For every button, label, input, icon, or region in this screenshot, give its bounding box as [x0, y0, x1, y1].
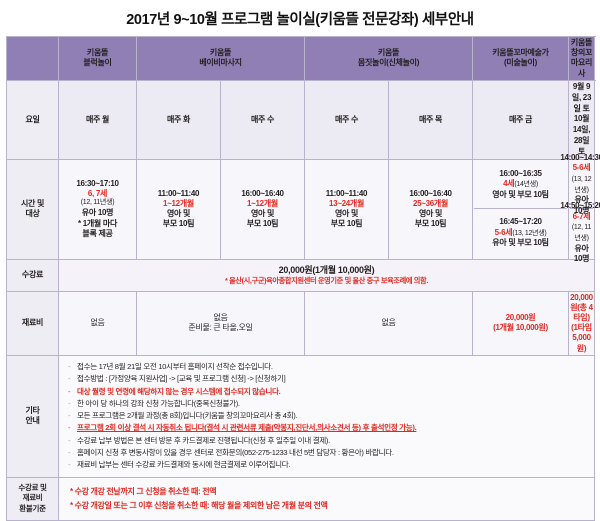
row-label-tuition: 수강료	[7, 259, 59, 291]
bullet-icon: -	[68, 435, 77, 447]
note-text: 재료비 납부는 센터 수강료 카드결제와 동시에 현금결제로 이루어집니다.	[77, 459, 589, 471]
header-col-block: 키움뜰 블럭놀이	[59, 37, 137, 81]
note-item: -수강료 납부 방법은 본 센터 방문 후 카드결제로 진행됩니다(신청 후 일…	[68, 435, 589, 447]
note-item: -접수는 17년 8월 21일 오전 10시부터 홈페이지 선착순 접수입니다.	[68, 361, 589, 373]
day-block: 매주 월	[59, 80, 137, 159]
time-target-row: 시간 및 대상 16:30~17:10 6, 7세 (12, 11년생) 유아 …	[7, 159, 595, 259]
note-text: 대상 월령 및 연령에 해당하지 않는 경우 시스템에 접수되지 않습니다.	[77, 386, 589, 398]
time-cell-art: 16:00~16:35 4세(14년생) 영아 및 부모 10팀 16:45~1…	[473, 159, 569, 259]
time-cell-art-second: 16:45~17:20 5-6세(13, 12년생) 유아 및 부모 10팀	[474, 209, 567, 257]
note-item: -대상 월령 및 연령에 해당하지 않는 경우 시스템에 접수되지 않습니다.	[68, 386, 589, 398]
note-item: -프로그램 2회 이상 결석 시 자동취소 됩니다(결석 시 관련서류 제출(약…	[68, 422, 589, 434]
bullet-icon: -	[68, 447, 77, 459]
header-col-cooking: 키움뜰 창의꼬마요리사	[569, 37, 595, 81]
tuition-value: 20,000원(1개월 10,000원) * 울산(시,구군)육아종합지원센터 …	[59, 259, 595, 291]
refund-policy-content: * 수강 개강 전날까지 그 신청을 취소한 때: 전액* 수강 개강일 또는 …	[59, 477, 595, 520]
bullet-icon: -	[68, 373, 77, 385]
day-body-wed: 매주 수	[305, 80, 389, 159]
bullet-icon: -	[68, 361, 77, 373]
notes-list: -접수는 17년 8월 21일 오전 10시부터 홈페이지 선착순 접수입니다.…	[60, 357, 593, 476]
bullet-icon: -	[68, 422, 77, 434]
time-cell-massage-tue: 11:00~11:40 1~12개월 영아 및 부모 10팀	[137, 159, 221, 259]
header-col-bodyplay: 키움뜰 몸짓놀이(신체놀이)	[305, 37, 473, 81]
row-label-time-target: 시간 및 대상	[7, 159, 59, 259]
header-corner	[7, 37, 59, 81]
notes-content: -접수는 17년 8월 21일 오전 10시부터 홈페이지 선착순 접수입니다.…	[59, 355, 595, 477]
day-massage-tue: 매주 화	[137, 80, 221, 159]
schedule-table: 키움뜰 블럭놀이 키움뜰 베이비마사지 키움뜰 몸짓놀이(신체놀이) 키움뜰꼬마…	[6, 36, 595, 521]
time-cell-cooking-second: 14:50~15:20 6-7세(12, 11년생) 유아 10명	[570, 209, 593, 257]
day-art-fri: 매주 금	[473, 80, 569, 159]
time-cell-cooking: 14:00~14:30 5-6세(13, 12년생) 유아 10명 14:50~…	[569, 159, 595, 259]
note-text: 접수는 17년 8월 21일 오전 10시부터 홈페이지 선착순 접수입니다.	[77, 361, 589, 373]
material-body: 없음	[305, 291, 473, 355]
time-cell-body-thu: 16:00~16:40 25~36개월 영아 및 부모 10팀	[389, 159, 473, 259]
bullet-icon: -	[68, 459, 77, 471]
day-row: 요일 매주 월 매주 화 매주 수 매주 수 매주 목 매주 금 9월 9일, …	[7, 80, 595, 159]
note-item: -모든 프로그램은 2개월 과정(총 8회)입니다(키움뜰 창의꼬마요리사 총 …	[68, 410, 589, 422]
note-item: -재료비 납부는 센터 수강료 카드결제와 동시에 현금결제로 이루어집니다.	[68, 459, 589, 471]
refund-item: * 수강 개강일 또는 그 이후 신청을 취소한 때: 해당 월을 제외한 남은…	[70, 499, 589, 513]
notes-row: 기타 안내 -접수는 17년 8월 21일 오전 10시부터 홈페이지 선착순 …	[7, 355, 595, 477]
bullet-icon: -	[68, 410, 77, 422]
bullet-icon: -	[68, 386, 77, 398]
note-text: 홈페이지 신청 후 변동사항이 있을 경우 센터로 전화문의(052-275-1…	[77, 447, 589, 459]
note-text: 수강료 납부 방법은 본 센터 방문 후 카드결제로 진행됩니다(신청 후 일주…	[77, 435, 589, 447]
tuition-row: 수강료 20,000원(1개월 10,000원) * 울산(시,구군)육아종합지…	[7, 259, 595, 291]
material-block: 없음	[59, 291, 137, 355]
table-header-row: 키움뜰 블럭놀이 키움뜰 베이비마사지 키움뜰 몸짓놀이(신체놀이) 키움뜰꼬마…	[7, 37, 595, 81]
schedule-page: 2017년 9~10월 프로그램 놀이실(키움뜰 전문강좌) 세부안내 키움뜰 …	[0, 0, 600, 450]
refund-list: * 수강 개강 전날까지 그 신청을 취소한 때: 전액* 수강 개강일 또는 …	[60, 482, 593, 516]
header-col-artist: 키움뜰꼬마예술가 (미술놀이)	[473, 37, 569, 81]
note-item: -홈페이지 신청 후 변동사항이 있을 경우 센터로 전화문의(052-275-…	[68, 447, 589, 459]
time-cell-massage-wed: 16:00~16:40 1~12개월 영아 및 부모 10팀	[221, 159, 305, 259]
note-text: 한 아이 당 하나의 강좌 신청 가능합니다(중복신청불가).	[77, 398, 589, 410]
bullet-icon: -	[68, 398, 77, 410]
note-item: -접수방법 : [가정양육 지원사업] -> [교육 및 프로그램 신청] ->…	[68, 373, 589, 385]
row-label-material-fee: 재료비	[7, 291, 59, 355]
page-title: 2017년 9~10월 프로그램 놀이실(키움뜰 전문강좌) 세부안내	[6, 0, 594, 36]
day-body-thu: 매주 목	[389, 80, 473, 159]
time-cell-body-wed: 11:00~11:40 13~24개월 영아 및 부모 10팀	[305, 159, 389, 259]
material-cooking: 20,000원(총 4타임) (1타임 5,000원)	[569, 291, 595, 355]
material-art: 20,000원 (1개월 10,000원)	[473, 291, 569, 355]
note-text: 모든 프로그램은 2개월 과정(총 8회)입니다(키움뜰 창의꼬마요리사 총 4…	[77, 410, 589, 422]
time-cell-block: 16:30~17:10 6, 7세 (12, 11년생) 유아 10명 * 1개…	[59, 159, 137, 259]
time-cell-art-first: 16:00~16:35 4세(14년생) 영아 및 부모 10팀	[474, 161, 567, 209]
day-massage-wed: 매주 수	[221, 80, 305, 159]
row-label-notes: 기타 안내	[7, 355, 59, 477]
note-text: 프로그램 2회 이상 결석 시 자동취소 됩니다(결석 시 관련서류 제출(약봉…	[77, 422, 589, 434]
refund-item: * 수강 개강 전날까지 그 신청을 취소한 때: 전액	[70, 485, 589, 499]
material-fee-row: 재료비 없음 없음 준비물: 큰 타올,오일 없음 20,000원 (1개월 1…	[7, 291, 595, 355]
refund-policy-row: 수강료 및 재료비 환불기준 * 수강 개강 전날까지 그 신청을 취소한 때:…	[7, 477, 595, 520]
note-item: -한 아이 당 하나의 강좌 신청 가능합니다(중복신청불가).	[68, 398, 589, 410]
day-cooking-sat: 9월 9일, 23일 토 10월 14일, 28일 토	[569, 80, 595, 159]
note-text: 접수방법 : [가정양육 지원사업] -> [교육 및 프로그램 신청] -> …	[77, 373, 589, 385]
material-massage: 없음 준비물: 큰 타올,오일	[137, 291, 305, 355]
row-label-refund: 수강료 및 재료비 환불기준	[7, 477, 59, 520]
header-col-babymassage: 키움뜰 베이비마사지	[137, 37, 305, 81]
row-label-day: 요일	[7, 80, 59, 159]
